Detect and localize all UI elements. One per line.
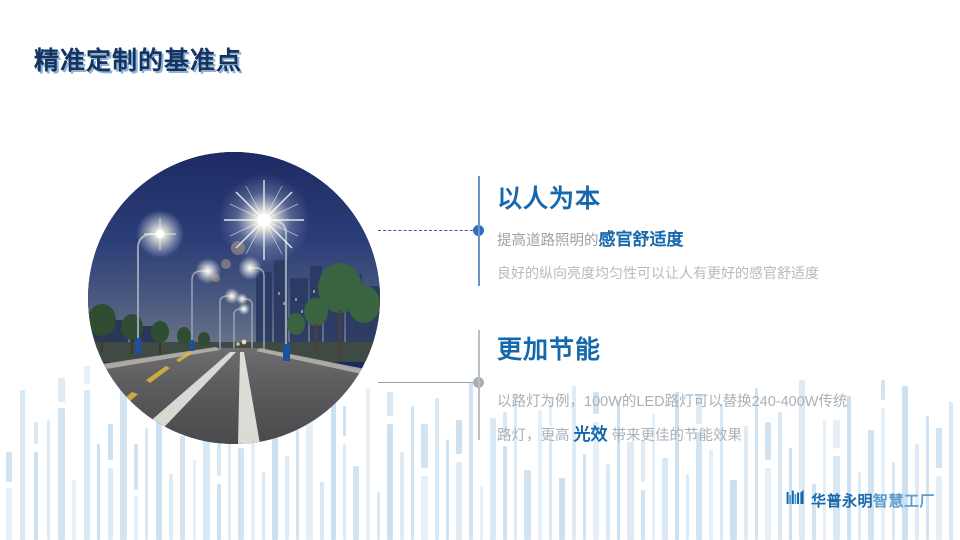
pattern-bar — [84, 366, 90, 384]
connector-solid-line-2 — [378, 382, 478, 383]
page-title: 精准定制的基准点 — [34, 41, 242, 77]
pattern-bar — [446, 440, 449, 540]
pattern-bar — [524, 470, 531, 540]
pattern-bar — [936, 428, 942, 468]
night-road-streetlight-photo — [88, 152, 380, 444]
content-block-energy-saving: 更加节能 以路灯为例，100W的LED路灯可以替换240-400W传统 路灯，更… — [497, 337, 927, 453]
pattern-bar — [108, 424, 113, 460]
pattern-bar — [503, 446, 507, 540]
pattern-bar — [296, 430, 299, 540]
pattern-bar — [84, 390, 90, 540]
pattern-bar — [134, 496, 138, 540]
brand-logo-text: 华普永明智慧工厂 — [811, 490, 935, 511]
pattern-bar — [193, 460, 196, 540]
pattern-bar — [306, 412, 313, 540]
pattern-bar — [435, 398, 439, 540]
pattern-bar — [730, 480, 737, 540]
block-2-body-emphasis: 光效 — [574, 425, 608, 444]
accent-vertical-line-2 — [478, 330, 480, 440]
pattern-bar — [377, 492, 380, 540]
pattern-bar — [456, 462, 462, 540]
pattern-bar — [145, 428, 148, 540]
pattern-bar — [262, 472, 265, 540]
pattern-bar — [134, 444, 138, 490]
connector-dashed-line-1 — [378, 230, 478, 231]
pattern-bar — [217, 484, 221, 540]
content-block-people-first: 以人为本 提高道路照明的感官舒适度 良好的纵向亮度均匀性可以让人有更好的感官舒适… — [497, 186, 917, 285]
pattern-bar — [400, 452, 404, 540]
pattern-bar — [47, 420, 50, 540]
brand-name: 华普永明 — [811, 493, 873, 510]
huapu-logo-mark-icon — [786, 488, 806, 513]
block-2-body-line-2: 路灯，更高 光效 带来更佳的节能效果 — [497, 417, 927, 453]
pattern-bar — [949, 402, 953, 540]
pattern-bar — [456, 420, 462, 454]
pattern-bar — [936, 476, 942, 540]
pattern-bar — [387, 424, 393, 540]
pattern-bar — [72, 480, 76, 540]
pattern-bar — [20, 390, 25, 540]
block-1-subtitle-prefix: 提高道路照明的 — [497, 233, 599, 249]
pattern-bar — [583, 454, 586, 540]
pattern-bar — [366, 388, 370, 540]
pattern-bar — [421, 476, 428, 540]
pattern-bar — [686, 474, 689, 540]
pattern-bar — [353, 466, 359, 540]
block-2-heading: 更加节能 — [497, 337, 927, 365]
pattern-bar — [606, 464, 610, 540]
pattern-bar — [58, 408, 65, 540]
block-2-body-part2: 路灯，更高 — [497, 428, 570, 444]
pattern-bar — [120, 380, 127, 540]
block-1-subtitle: 提高道路照明的感官舒适度 — [497, 227, 917, 253]
pattern-bar — [108, 468, 113, 540]
pattern-bar — [662, 458, 668, 540]
pattern-bar — [343, 444, 346, 540]
pattern-bar — [641, 490, 645, 540]
pattern-bar — [169, 474, 173, 540]
block-1-heading: 以人为本 — [497, 186, 917, 214]
pattern-bar — [469, 382, 473, 540]
pattern-bar — [320, 482, 324, 540]
block-2-body-line-1: 以路灯为例，100W的LED路灯可以替换240-400W传统 — [497, 387, 927, 417]
pattern-bar — [238, 448, 244, 540]
pattern-bar — [411, 406, 414, 540]
pattern-bar — [421, 424, 428, 468]
pattern-bar — [343, 406, 346, 436]
pattern-bar — [490, 418, 496, 540]
pattern-bar — [387, 392, 393, 416]
block-2-body-part3: 带来更佳的节能效果 — [612, 428, 743, 444]
block-2-body: 以路灯为例，100W的LED路灯可以替换240-400W传统 路灯，更高 光效 … — [497, 387, 927, 453]
pattern-bar — [6, 452, 12, 482]
pattern-bar — [97, 444, 100, 540]
block-1-body: 良好的纵向亮度均匀性可以让人有更好的感官舒适度 — [497, 263, 917, 285]
pattern-bar — [34, 452, 38, 540]
pattern-bar — [709, 450, 713, 540]
slide-root: 精准定制的基准点 — [0, 0, 960, 540]
pattern-bar — [180, 436, 185, 540]
pattern-bar — [331, 396, 336, 540]
brand-suffix: 智慧工厂 — [873, 493, 935, 510]
pattern-bar — [765, 468, 771, 540]
pattern-bar — [6, 488, 12, 540]
block-1-subtitle-emphasis: 感官舒适度 — [599, 230, 684, 249]
pattern-bar — [559, 478, 565, 540]
pattern-bar — [34, 422, 38, 444]
pattern-bar — [627, 442, 634, 540]
brand-logo: 华普永明智慧工厂 — [786, 488, 935, 513]
pattern-bar — [285, 456, 289, 540]
pattern-bar — [58, 378, 65, 402]
accent-vertical-line-1 — [478, 176, 480, 286]
pattern-bar — [480, 486, 483, 540]
